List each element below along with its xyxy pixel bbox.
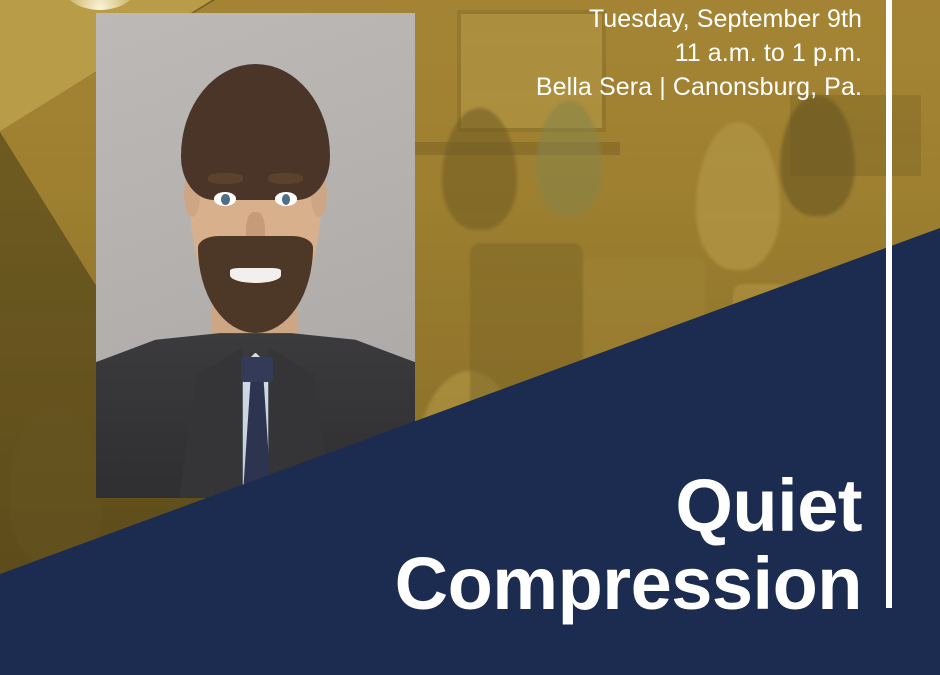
portrait-eyebrow-right [268,173,303,184]
portrait-necktie-knot [241,357,273,381]
event-venue: Bella Sera | Canonsburg, Pa. [536,70,862,104]
portrait-eyebrow-left [208,173,243,184]
poster-title-line-1: Quiet [395,467,862,545]
portrait-eye-right [275,192,297,206]
speaker-portrait-photo [96,13,415,498]
portrait-iris-left [221,194,229,205]
poster-title-line-2: Compression [395,545,862,623]
vertical-divider-rule [886,0,892,608]
event-details-block: Tuesday, September 9th 11 a.m. to 1 p.m.… [536,2,862,104]
event-date: Tuesday, September 9th [536,2,862,36]
portrait-iris-right [282,194,290,205]
event-poster: Tuesday, September 9th 11 a.m. to 1 p.m.… [0,0,940,675]
poster-title: Quiet Compression [395,467,862,623]
event-time: 11 a.m. to 1 p.m. [536,36,862,70]
